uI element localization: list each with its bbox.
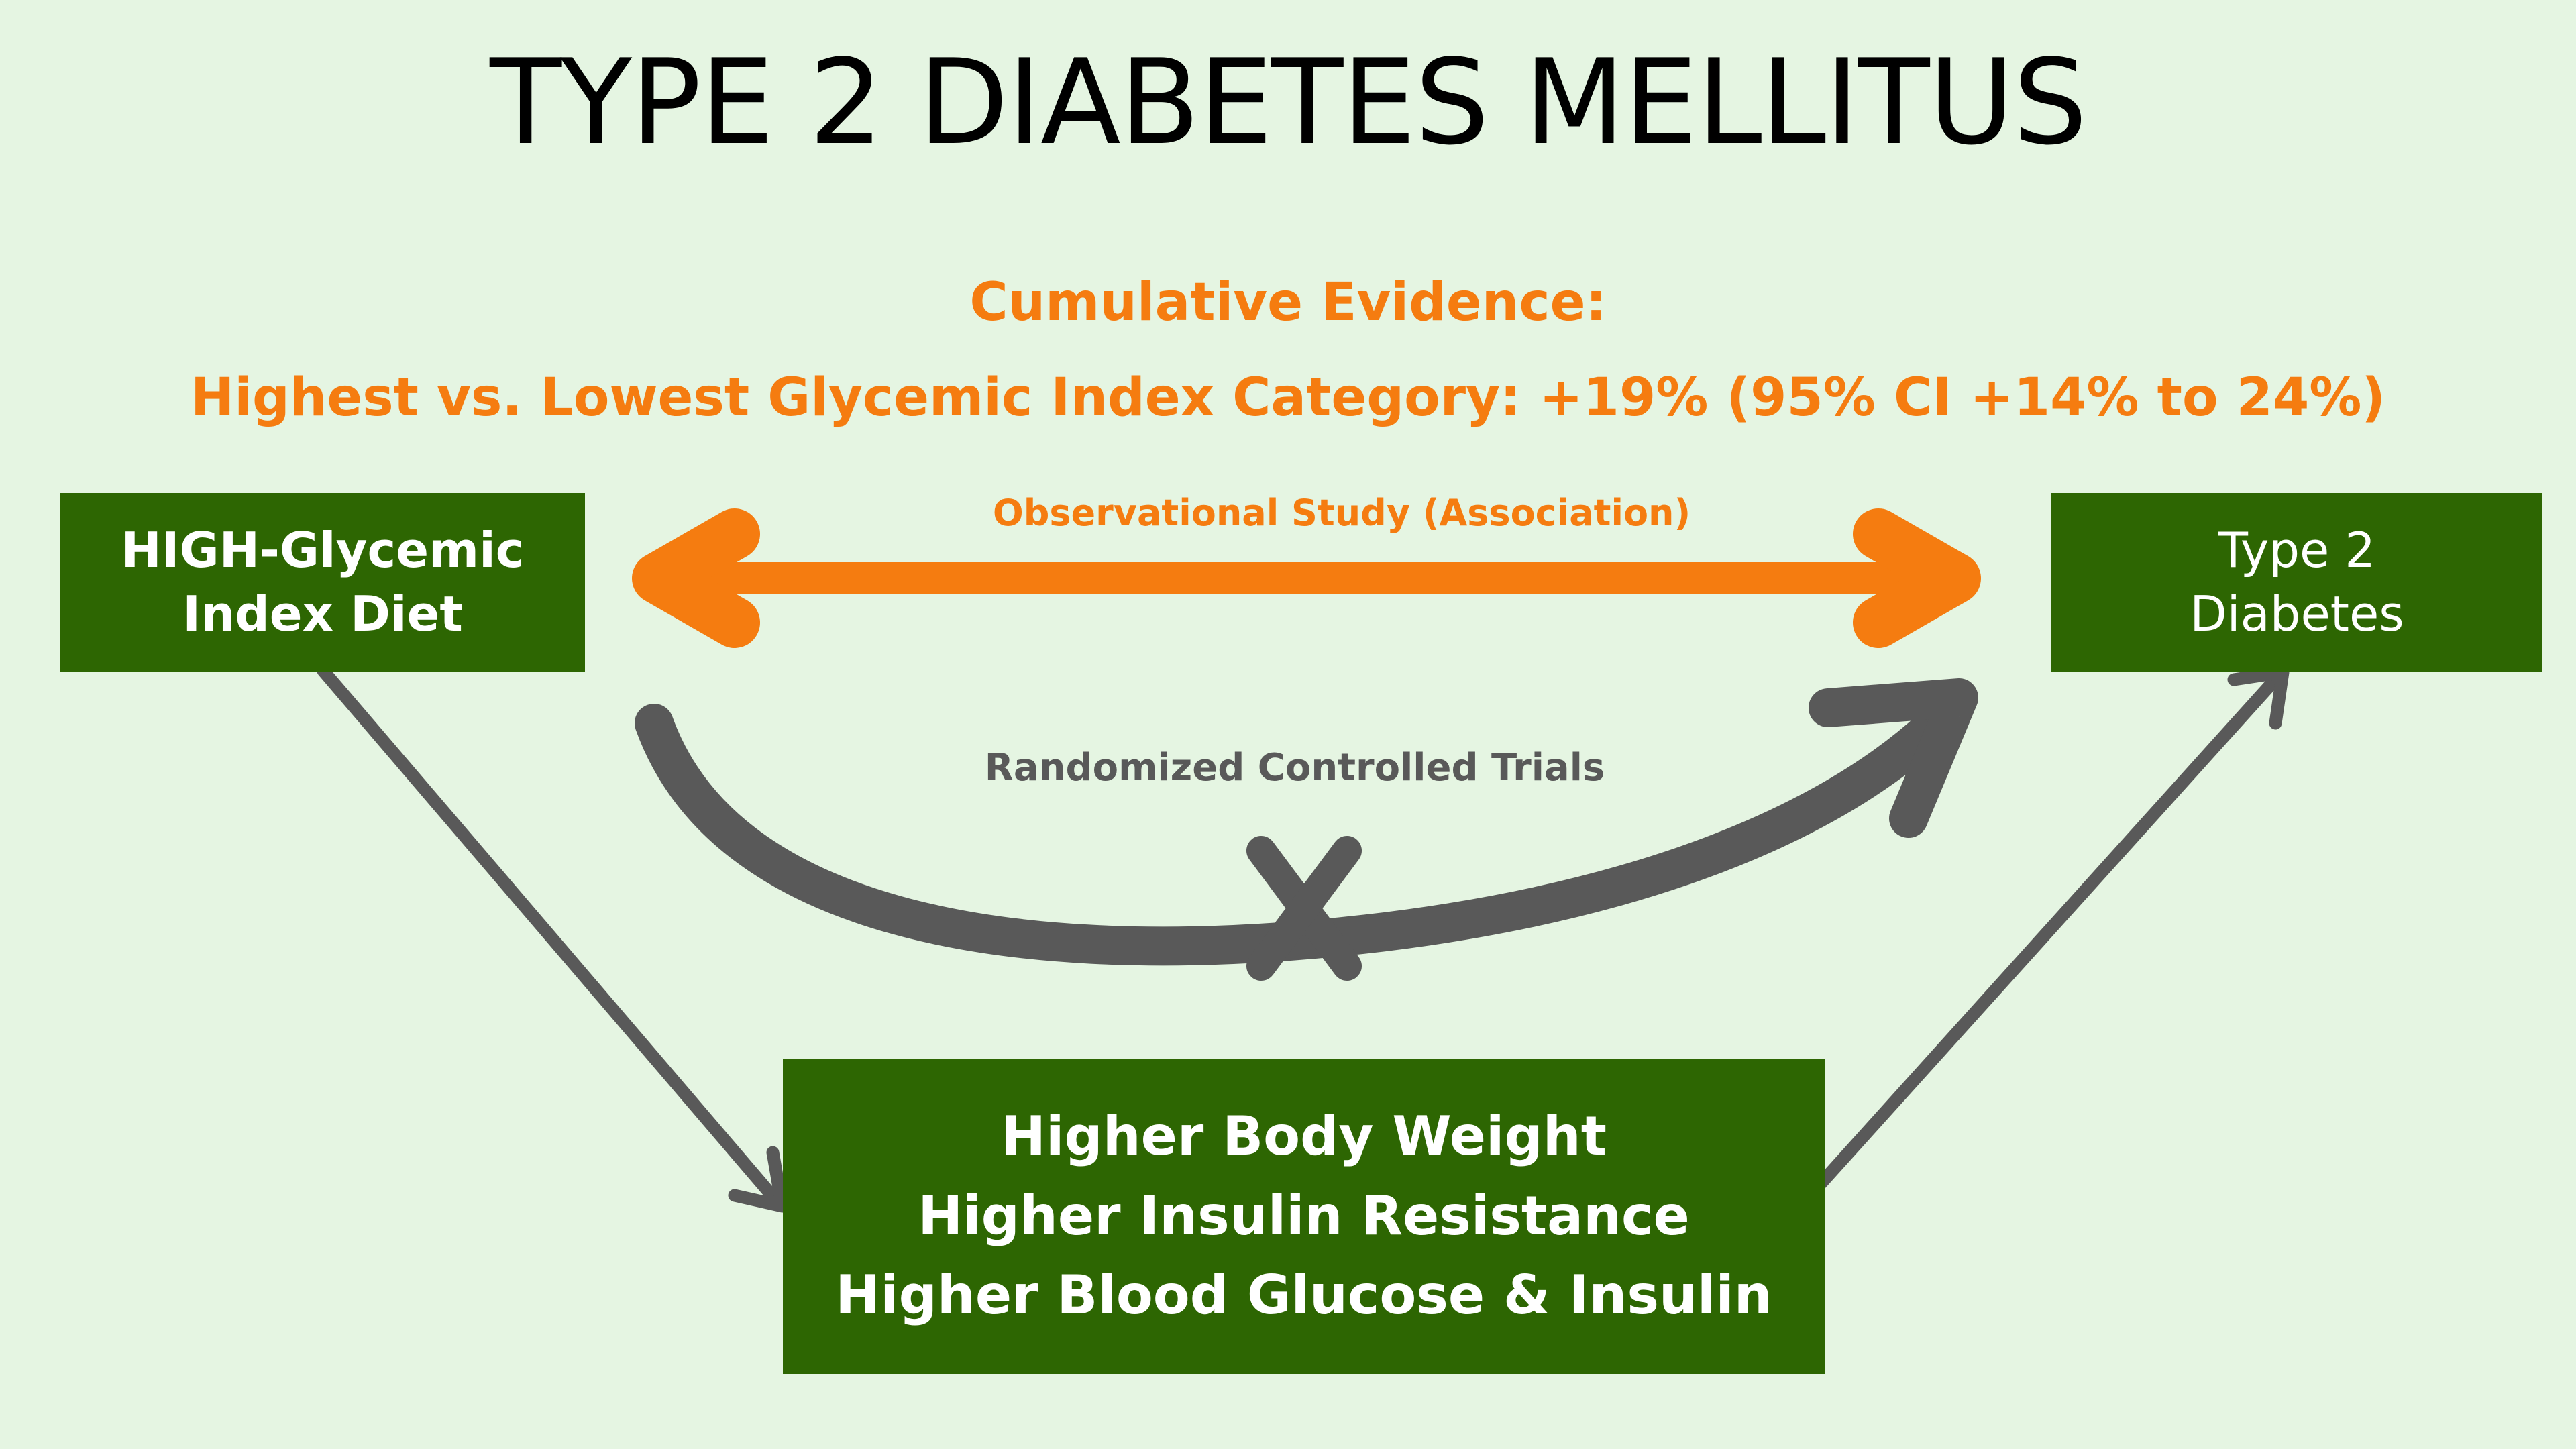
diagram-canvas: TYPE 2 DIABETES MELLITUS Cumulative Evid…	[0, 0, 2576, 1449]
observational-double-arrow	[657, 534, 1955, 623]
arrow-up-right-icon	[1828, 698, 1959, 818]
cumulative-evidence-heading: Cumulative Evidence:	[0, 272, 2576, 333]
mechanisms-to-outcome-arrow	[1799, 672, 2283, 1207]
node-high-gi-line1: HIGH-Glycemic	[121, 519, 525, 582]
node-mechanisms[interactable]: Higher Body Weight Higher Insulin Resist…	[783, 1059, 1825, 1374]
node-high-gi-line2: Index Diet	[182, 582, 463, 646]
arrow-left-icon	[657, 534, 735, 623]
node-type-2-diabetes[interactable]: Type 2 Diabetes	[2051, 493, 2542, 672]
page-title: TYPE 2 DIABETES MELLITUS	[0, 42, 2576, 165]
x-cross-icon	[1261, 851, 1347, 966]
node-mechanisms-line2: Higher Insulin Resistance	[918, 1177, 1689, 1256]
arrowhead-up-right-icon	[2234, 672, 2283, 723]
cumulative-evidence-detail: Highest vs. Lowest Glycemic Index Catego…	[0, 368, 2576, 428]
node-mechanisms-line1: Higher Body Weight	[1001, 1097, 1607, 1176]
node-t2d-line2: Diabetes	[2190, 582, 2404, 646]
exposure-to-mechanisms-arrow	[323, 671, 782, 1206]
arrow-right-icon	[1878, 534, 1955, 623]
node-t2d-line1: Type 2	[2218, 519, 2375, 582]
arrowhead-down-right-icon	[735, 1152, 782, 1206]
node-mechanisms-line3: Higher Blood Glucose & Insulin	[835, 1256, 1772, 1335]
node-high-glycemic-index-diet[interactable]: HIGH-Glycemic Index Diet	[60, 493, 585, 672]
observational-study-label: Observational Study (Association)	[953, 492, 1731, 534]
rct-curved-arrow	[654, 698, 1959, 946]
randomized-controlled-trials-label: Randomized Controlled Trials	[953, 746, 1637, 790]
